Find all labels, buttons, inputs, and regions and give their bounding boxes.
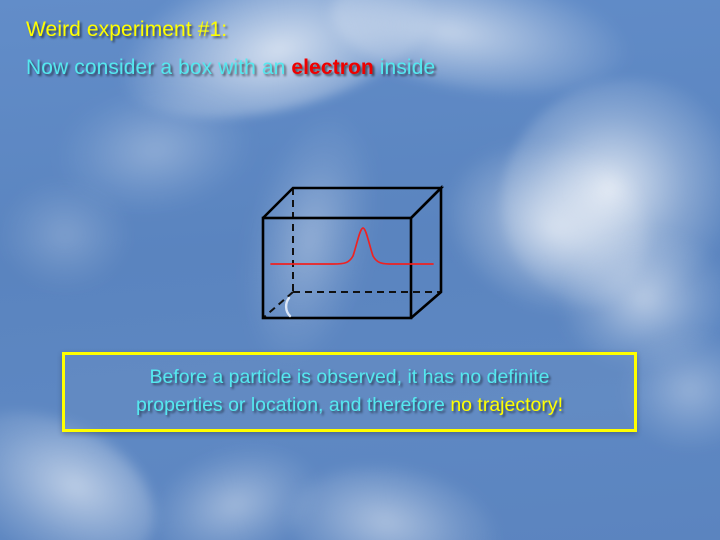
slide-subtitle: Now consider a box with an electron insi… <box>26 56 686 80</box>
callout-line-2: properties or location, and therefore no… <box>136 392 563 420</box>
slide-canvas: Weird experiment #1: Now consider a box … <box>0 0 720 540</box>
subtitle-emphasis-electron: electron <box>291 56 374 79</box>
box-diagram <box>245 170 460 335</box>
cloud-wisp <box>53 77 258 222</box>
subtitle-prefix: Now consider a box with an <box>26 56 291 79</box>
box-diagram-svg <box>245 170 460 335</box>
callout-line-1: Before a particle is observed, it has no… <box>150 364 550 392</box>
cloud-wisp <box>281 453 509 540</box>
cloud-wisp <box>0 180 130 290</box>
subtitle-suffix: inside <box>374 56 435 79</box>
callout-emphasis-no-trajectory: no trajectory! <box>450 394 563 416</box>
cloud-wisp <box>466 42 720 349</box>
callout-box: Before a particle is observed, it has no… <box>62 352 637 432</box>
cloud-wisp <box>137 426 333 540</box>
heading-block: Weird experiment #1: Now consider a box … <box>26 18 686 80</box>
gaussian-wave-packet <box>271 228 433 264</box>
callout-line-2-prefix: properties or location, and therefore <box>136 394 450 416</box>
box-right-face <box>411 188 441 318</box>
box-front-face <box>263 218 411 318</box>
slide-title: Weird experiment #1: <box>26 18 686 42</box>
cloud-wisp-artifact <box>286 298 290 316</box>
